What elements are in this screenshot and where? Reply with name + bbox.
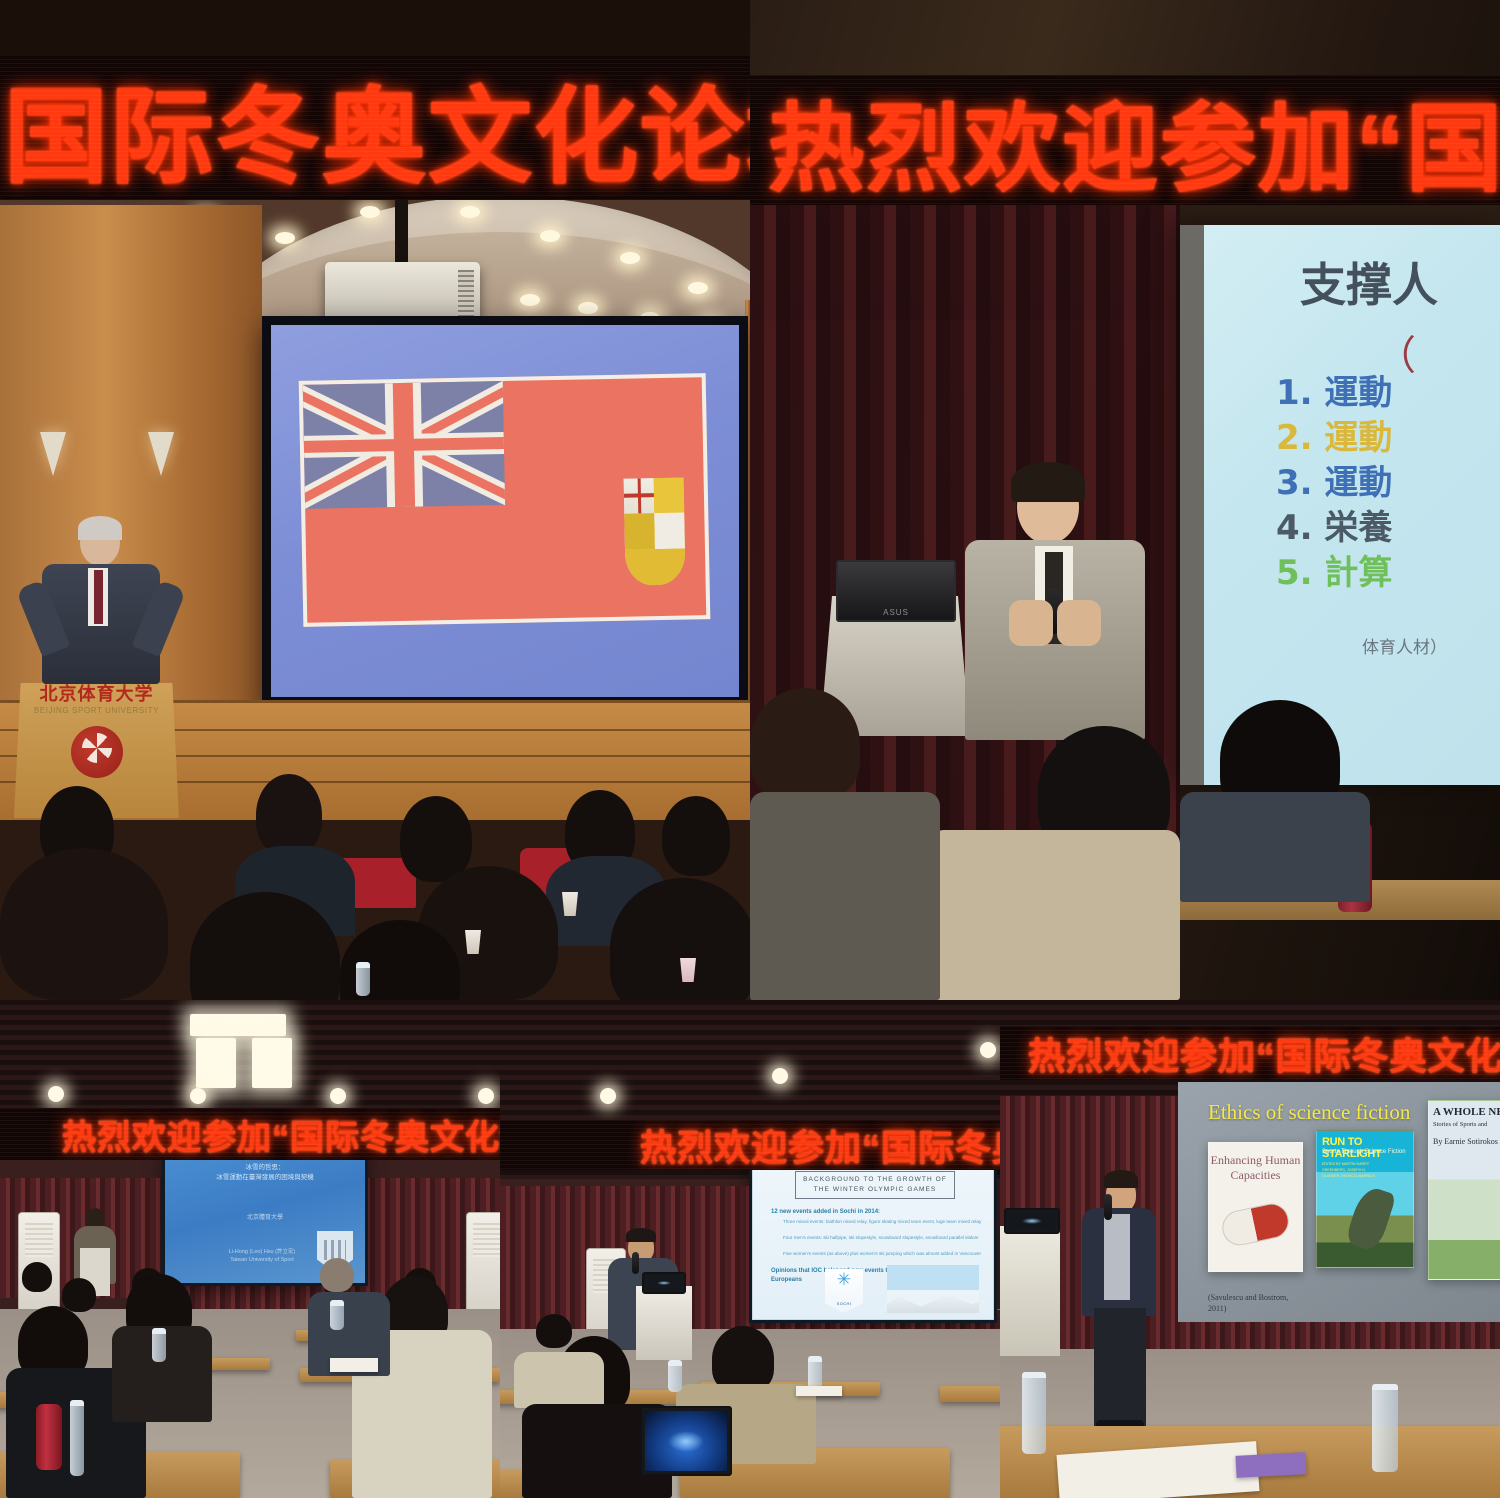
projector-mount bbox=[395, 196, 408, 268]
sochi-2014-logo-icon: SOCHI bbox=[825, 1269, 863, 1313]
slide-title: Ethics of science fiction bbox=[1208, 1100, 1410, 1125]
attendee-table bbox=[940, 1386, 1000, 1402]
book-run-to-starlight: RUN TO STARLIGHT Sports Through Science … bbox=[1316, 1130, 1414, 1268]
panel-auditorium-keynote: 国际冬奥文化论坛 北京体育大学 BEIJING SPORT UNIVERSITY bbox=[0, 0, 750, 1000]
panel-seminar-presenter: BACKGROUND TO THE GROWTH OF THE WINTER O… bbox=[500, 1000, 1000, 1498]
attendee-head bbox=[712, 1326, 774, 1392]
slide-list: 1. 運動 2. 運動 3. 運動 4. 栄養 5. 計算 bbox=[1276, 371, 1392, 595]
bsu-logo-icon bbox=[71, 726, 123, 778]
water-bottle bbox=[330, 1300, 344, 1330]
audience-torso bbox=[1180, 792, 1370, 902]
projection-screen bbox=[271, 325, 739, 697]
book-enhancing-human-capacities: Enhancing Human Capacities bbox=[1208, 1142, 1303, 1272]
book-subtitle: Stories of Sports and bbox=[1433, 1121, 1487, 1128]
slide-speaker-block: Li-Hong (Leo) Hsu (許立宏) Taiwan Universit… bbox=[187, 1248, 337, 1265]
ceiling-strip-light bbox=[190, 1014, 286, 1036]
thermos-flask-red bbox=[36, 1404, 62, 1470]
slide-footnote: 体育人材） bbox=[1362, 633, 1447, 658]
ceiling-light bbox=[520, 294, 540, 306]
led-banner-bottom-right: 热烈欢迎参加“国际冬奥文化论 bbox=[1000, 1026, 1500, 1080]
water-bottle bbox=[668, 1360, 682, 1392]
water-bottle bbox=[808, 1356, 822, 1390]
slide-title-lines: 冰雪的哲思： 冰雪運動在臺灣發展的困境與契機 bbox=[165, 1163, 365, 1183]
ceiling-spotlight bbox=[48, 1086, 64, 1102]
projection-screen-5: Ethics of science fiction Enhancing Huma… bbox=[1178, 1082, 1500, 1322]
panel-ethics-presentation: Ethics of science fiction Enhancing Huma… bbox=[1000, 1000, 1500, 1498]
coat-of-arms-shield bbox=[624, 477, 686, 585]
projection-screen-4: BACKGROUND TO THE GROWTH OF THE WINTER O… bbox=[749, 1157, 997, 1323]
book-a-whole-new-ball-game: A WHOLE NEW Stories of Sports and By Ear… bbox=[1428, 1100, 1500, 1280]
canadian-red-ensign-flag bbox=[299, 373, 711, 626]
speaker-with-microphone bbox=[965, 470, 1145, 750]
ceiling-spotlight bbox=[980, 1042, 996, 1058]
audience-torso bbox=[930, 830, 1180, 1000]
slide-bullet-1: 12 new events added in Sochi in 2014: bbox=[771, 1209, 880, 1215]
speaker-at-podium bbox=[28, 520, 178, 695]
slide-citation: (Savulescu and Bostrom, 2011) bbox=[1208, 1293, 1288, 1314]
list-item: 3. 運動 bbox=[1276, 461, 1392, 506]
book-editors: EDITED BY MARTIN HARRY GREENBERG, JOSEPH… bbox=[1322, 1161, 1382, 1179]
water-bottle bbox=[1022, 1372, 1046, 1454]
attendee-head bbox=[536, 1314, 572, 1348]
ceiling-light bbox=[540, 230, 560, 242]
wall-sconce bbox=[148, 432, 174, 476]
ceiling-spotlight bbox=[330, 1088, 346, 1104]
lectern bbox=[1000, 1226, 1060, 1356]
attendee-head bbox=[320, 1258, 354, 1292]
ceiling-light bbox=[578, 302, 598, 314]
screen-side-bar bbox=[1180, 225, 1204, 785]
presenter-laptop bbox=[1004, 1208, 1060, 1234]
slide-title: BACKGROUND TO THE GROWTH OF THE WINTER O… bbox=[796, 1175, 954, 1195]
ceiling-light bbox=[460, 206, 480, 218]
ceiling-spotlight bbox=[600, 1088, 616, 1104]
runner-illustration bbox=[1345, 1184, 1397, 1253]
slide-title-box: BACKGROUND TO THE GROWTH OF THE WINTER O… bbox=[795, 1171, 955, 1199]
book-author: By Earnie Sotirokos bbox=[1433, 1137, 1498, 1147]
ceiling-light bbox=[688, 282, 708, 294]
papers bbox=[330, 1358, 378, 1372]
presenter-laptop bbox=[642, 1272, 686, 1294]
led-banner-text: 热烈欢迎参加“国际… bbox=[750, 75, 1500, 205]
lectern bbox=[636, 1286, 692, 1360]
led-banner-top-left: 国际冬奥文化论坛 bbox=[0, 55, 750, 200]
ceiling-light bbox=[620, 252, 640, 264]
list-item: 5. 計算 bbox=[1276, 551, 1392, 596]
list-item: 4. 栄養 bbox=[1276, 506, 1392, 551]
ceiling-strip-light bbox=[196, 1038, 236, 1088]
list-item: 1. 運動 bbox=[1276, 371, 1392, 416]
book-title: A WHOLE NEW bbox=[1433, 1106, 1500, 1118]
ceiling-light bbox=[360, 206, 380, 218]
wall-sconce bbox=[40, 432, 66, 476]
audience-torso bbox=[750, 792, 940, 1000]
attendee-head bbox=[22, 1262, 52, 1292]
led-banner-text: 热烈欢迎参加“国际冬奥文化论坛”的各位嘉宾 bbox=[0, 1110, 500, 1159]
laptop-asus bbox=[836, 560, 956, 622]
led-banner-text: 热烈欢迎参加“国际冬奥文化论 bbox=[1000, 1026, 1500, 1080]
attendee-torso bbox=[514, 1352, 604, 1408]
ski-photo bbox=[887, 1265, 979, 1313]
microphone bbox=[1104, 1194, 1112, 1220]
ceiling-strip-light bbox=[252, 1038, 292, 1088]
panel-lecture-microphone: 支撑人 （ 1. 運動 2. 運動 3. 運動 4. 栄養 bbox=[750, 0, 1500, 1000]
slide-winter-olympics: BACKGROUND TO THE GROWTH OF THE WINTER O… bbox=[752, 1160, 994, 1320]
water-bottle bbox=[1372, 1384, 1398, 1472]
audience-head bbox=[750, 688, 860, 800]
projection-screen-2: 支撑人 （ 1. 運動 2. 運動 3. 運動 4. 栄養 bbox=[1180, 225, 1500, 785]
water-bottle bbox=[70, 1400, 84, 1476]
papers bbox=[796, 1386, 842, 1396]
water-bottle bbox=[356, 962, 370, 996]
attendee-laptop-windows bbox=[640, 1406, 732, 1476]
book-title: RUN TO STARLIGHT bbox=[1322, 1136, 1413, 1160]
slide-organization: 北京體育大學 bbox=[165, 1212, 365, 1221]
ceiling-spotlight bbox=[772, 1068, 788, 1084]
led-banner-text: 国际冬奥文化论坛 bbox=[0, 55, 750, 200]
list-item: 2. 運動 bbox=[1276, 416, 1392, 461]
slide-sub-bullet: Five women's events (as above) plus wome… bbox=[783, 1251, 983, 1258]
folder bbox=[1235, 1452, 1306, 1478]
photo-collage: 国际冬奥文化论坛 北京体育大学 BEIJING SPORT UNIVERSITY bbox=[0, 0, 1500, 1498]
slide-sub-bullet: Three mixed events: biathlon mixed relay… bbox=[783, 1219, 983, 1226]
ceiling-spotlight bbox=[478, 1088, 494, 1104]
water-bottle bbox=[152, 1328, 166, 1362]
union-jack-canton bbox=[303, 381, 505, 508]
podium-english-name: BEIJING SPORT UNIVERSITY bbox=[14, 706, 179, 715]
pill-illustration bbox=[1219, 1200, 1292, 1248]
book-title: Enhancing Human Capacities bbox=[1209, 1153, 1302, 1182]
panel-seminar-room-wide: 冰雪的哲思： 冰雪運動在臺灣發展的困境與契機 北京體育大學 Li-Hong (L… bbox=[0, 1000, 500, 1498]
led-banner-bottom-middle: 热烈欢迎参加“国际冬奥文化论坛 bbox=[500, 1120, 1000, 1170]
microphone bbox=[632, 1252, 639, 1274]
slide-title: 支撑人 bbox=[1300, 249, 1438, 315]
ceiling-light bbox=[275, 232, 295, 244]
projection-screen-frame bbox=[262, 316, 748, 706]
sochi-label: SOCHI bbox=[825, 1301, 863, 1306]
slide-sub-bullet: Four men's events: ski halfpipe, ski slo… bbox=[783, 1235, 983, 1242]
book-subtitle: Sports Through Science Fiction bbox=[1322, 1149, 1406, 1155]
attendee-head bbox=[62, 1278, 96, 1312]
led-banner-top-right: 热烈欢迎参加“国际… bbox=[750, 75, 1500, 205]
led-banner-text: 热烈欢迎参加“国际冬奥文化论坛 bbox=[500, 1120, 1000, 1170]
ceiling-spotlight bbox=[190, 1088, 206, 1104]
led-banner-bottom-left: 热烈欢迎参加“国际冬奥文化论坛”的各位嘉宾 bbox=[0, 1108, 500, 1160]
